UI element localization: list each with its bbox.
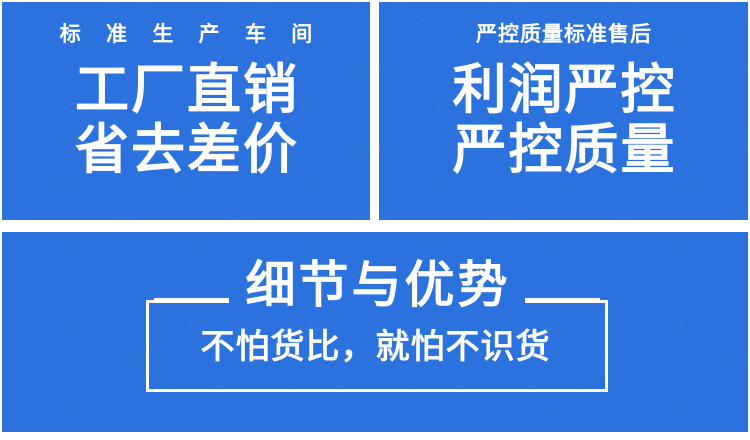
panel-details-advantages-content: 细节与优势 不怕货比，就怕不识货 <box>2 232 748 432</box>
panel-details-advantages-title-wrap: 细节与优势 <box>2 260 748 310</box>
promo-banner: 标 准 生 产 车 间 工厂直销 省去差价 严控质量标准售后 利润严控 严控质量… <box>0 0 750 440</box>
panel-quality-control-headline-line1: 利润严控 <box>451 61 677 119</box>
panel-quality-control-headline-line2: 严控质量 <box>451 121 677 179</box>
panel-factory-direct-headline-line1: 工厂直销 <box>73 61 299 119</box>
panel-quality-control-content: 严控质量标准售后 利润严控 严控质量 <box>379 2 748 220</box>
panel-details-advantages: 细节与优势 不怕货比，就怕不识货 <box>2 232 748 432</box>
panel-details-advantages-subtitle: 不怕货比，就怕不识货 <box>2 330 748 364</box>
panel-factory-direct-content: 标 准 生 产 车 间 工厂直销 省去差价 <box>2 2 370 220</box>
panel-factory-direct-kicker: 标 准 生 产 车 间 <box>51 24 322 45</box>
panel-quality-control: 严控质量标准售后 利润严控 严控质量 <box>379 2 748 220</box>
panel-factory-direct: 标 准 生 产 车 间 工厂直销 省去差价 <box>2 2 370 220</box>
panel-details-advantages-title: 细节与优势 <box>229 260 525 310</box>
panel-factory-direct-headline-line2: 省去差价 <box>73 121 299 179</box>
panel-quality-control-kicker: 严控质量标准售后 <box>475 24 652 45</box>
